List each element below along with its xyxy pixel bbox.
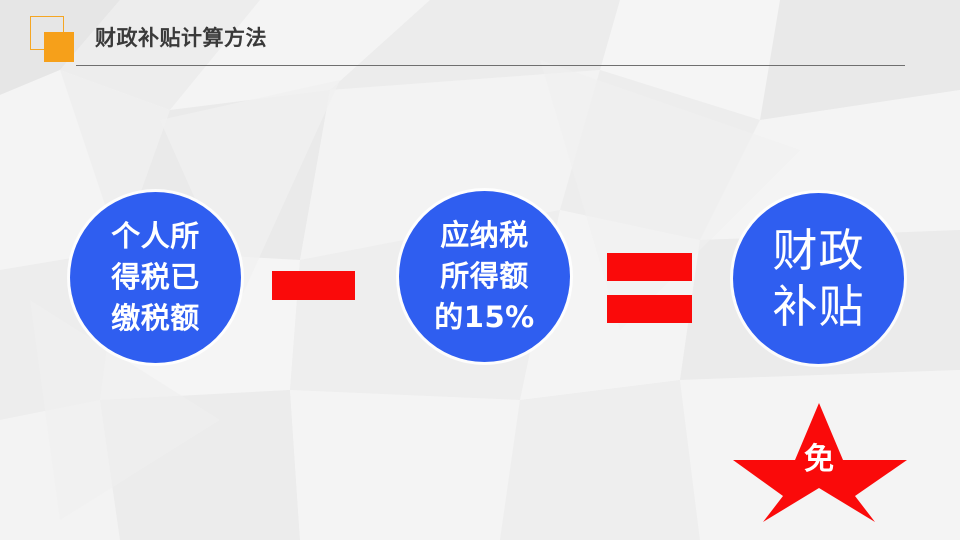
- minus-sign-icon: [272, 271, 355, 300]
- equals-sign-bar-top: [607, 253, 692, 281]
- slide-canvas: 财政补贴计算方法 个人所 得税已 缴税额 应纳税 所得额 的15% 财政 补贴 …: [0, 0, 960, 540]
- formula-term-taxable-15-line-1: 应纳税: [440, 215, 529, 256]
- formula-term-paid-tax-line-2: 得税已: [111, 257, 200, 298]
- formula-term-subsidy: 财政 补贴: [733, 193, 904, 364]
- formula-term-taxable-15-line-2: 所得额: [440, 256, 529, 297]
- slide-header: 财政补贴计算方法: [0, 0, 960, 78]
- header-divider: [76, 65, 905, 66]
- logo-squares-icon: [30, 16, 88, 64]
- formula-term-taxable-15: 应纳税 所得额 的15%: [399, 191, 570, 362]
- formula-term-paid-tax-line-1: 个人所: [111, 216, 200, 257]
- formula-term-taxable-15-line-3: 的15%: [434, 297, 534, 338]
- exemption-star-badge: 免: [731, 400, 921, 524]
- formula-term-subsidy-line-2: 补贴: [772, 279, 864, 335]
- formula-term-paid-tax: 个人所 得税已 缴税额: [70, 192, 241, 363]
- equals-sign-bar-bottom: [607, 295, 692, 323]
- exemption-star-label: 免: [731, 444, 907, 476]
- formula-term-paid-tax-line-3: 缴税额: [111, 298, 200, 339]
- logo-filled-square-icon: [44, 32, 74, 62]
- equals-sign-icon: [607, 253, 692, 323]
- formula-term-subsidy-line-1: 财政: [772, 223, 864, 279]
- page-title: 财政补贴计算方法: [95, 24, 267, 52]
